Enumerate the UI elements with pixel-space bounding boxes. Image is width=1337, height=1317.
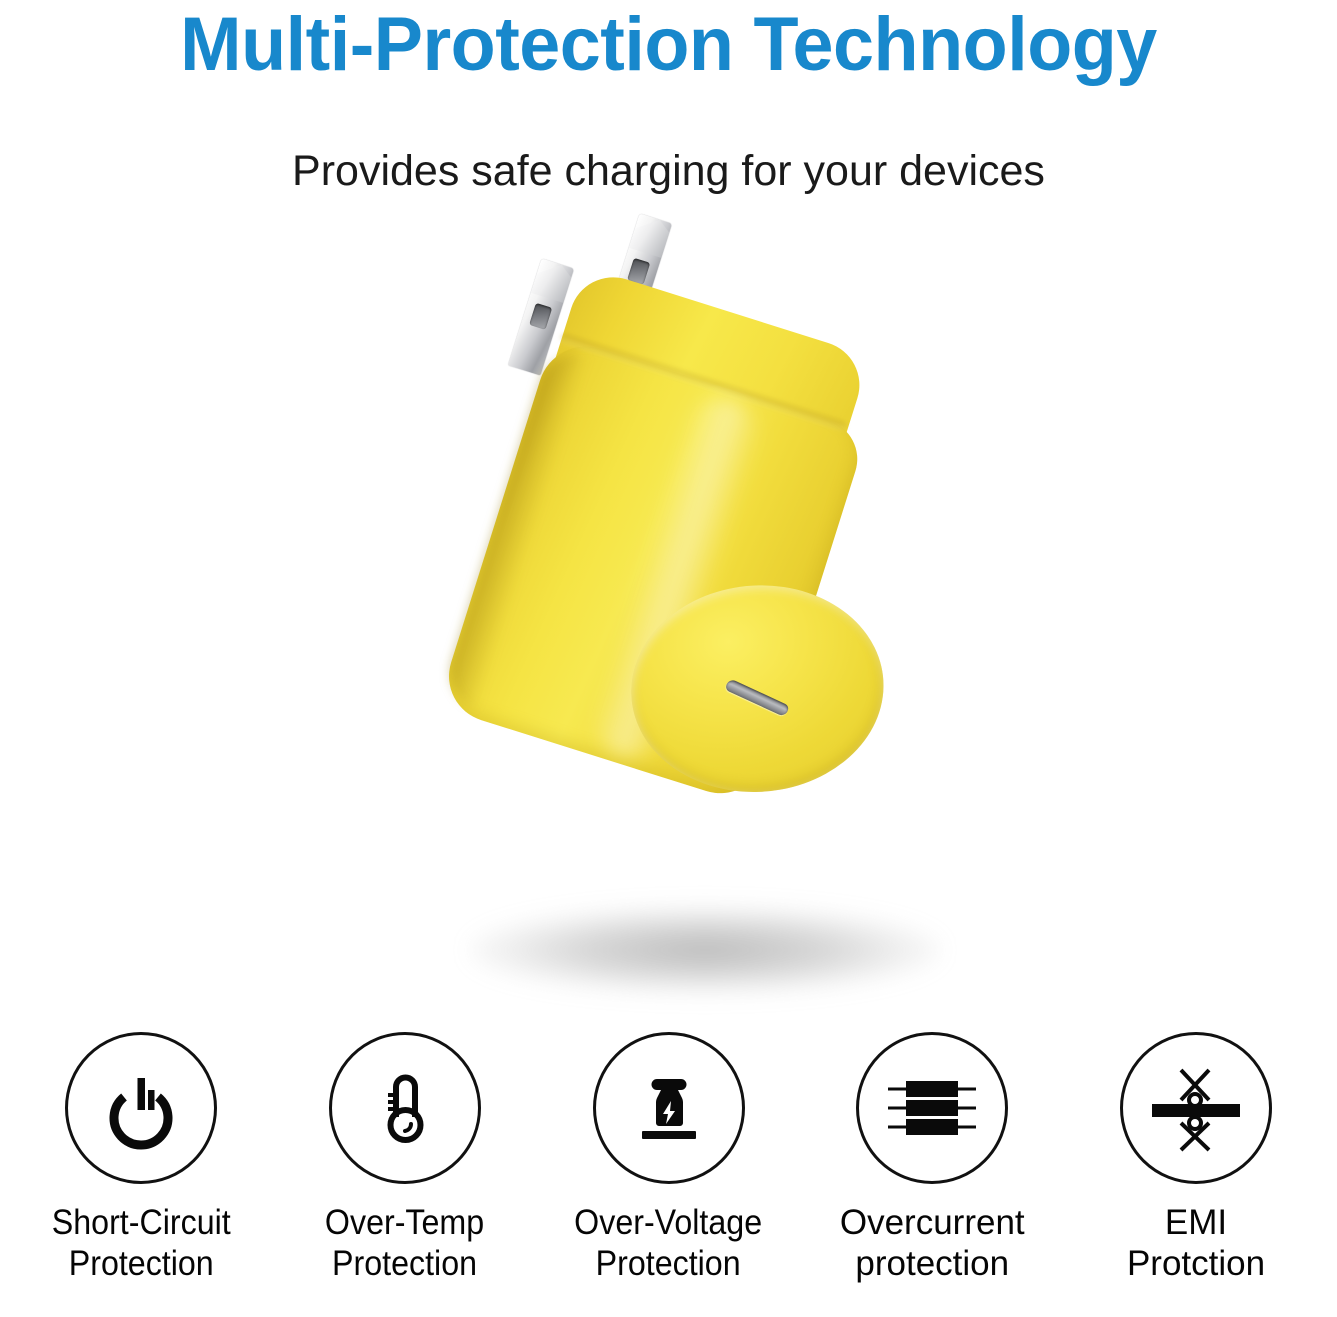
emi-shield-icon (1144, 1060, 1248, 1156)
feature-label-line1: EMI (1165, 1203, 1227, 1242)
feature-label-line2: Protction (1127, 1244, 1265, 1283)
feature-label-line2: Protection (68, 1244, 213, 1283)
feature-label-line2: Protection (596, 1244, 741, 1283)
thermometer-icon (362, 1065, 448, 1151)
badge-circle (856, 1032, 1008, 1184)
feature-label-line1: Overcurrent (840, 1203, 1025, 1242)
feature-label: Over-VoltageProtection (575, 1202, 763, 1284)
prong-hole (529, 303, 552, 330)
usb-c-port (724, 678, 790, 717)
feature-label: Over-TempProtection (325, 1202, 484, 1284)
page-subtitle: Provides safe charging for your devices (0, 145, 1337, 197)
feature-emi: EMIProtction (1067, 1032, 1325, 1284)
feature-label-line1: Over-Temp (325, 1203, 484, 1242)
protection-feature-row: Short-CircuitProtection Over-TempProtect… (0, 1032, 1337, 1317)
feature-label: Overcurrentprotection (840, 1202, 1025, 1284)
feature-label: Short-CircuitProtection (52, 1202, 231, 1284)
feature-over-voltage: Over-VoltageProtection (540, 1032, 798, 1284)
badge-circle (329, 1032, 481, 1184)
feature-label-line1: Over-Voltage (575, 1203, 763, 1242)
fuse-bars-icon (882, 1063, 982, 1153)
feature-over-temp: Over-TempProtection (276, 1032, 534, 1284)
voltage-weight-icon (624, 1063, 714, 1153)
badge-circle (593, 1032, 745, 1184)
feature-label-line2: Protection (332, 1244, 477, 1283)
badge-circle (65, 1032, 217, 1184)
product-drop-shadow (470, 907, 940, 993)
prong-tip (629, 213, 672, 258)
feature-overcurrent: Overcurrentprotection (803, 1032, 1061, 1284)
feature-label-line1: Short-Circuit (52, 1203, 231, 1242)
feature-label-line2: protection (855, 1244, 1009, 1283)
power-icon (98, 1065, 184, 1151)
page-title: Multi-Protection Technology (20, 2, 1317, 88)
badge-circle (1120, 1032, 1272, 1184)
feature-short-circuit: Short-CircuitProtection (12, 1032, 270, 1284)
charger-illustration (448, 215, 988, 855)
feature-label: EMIProtction (1127, 1202, 1265, 1284)
product-image (0, 215, 1337, 1005)
